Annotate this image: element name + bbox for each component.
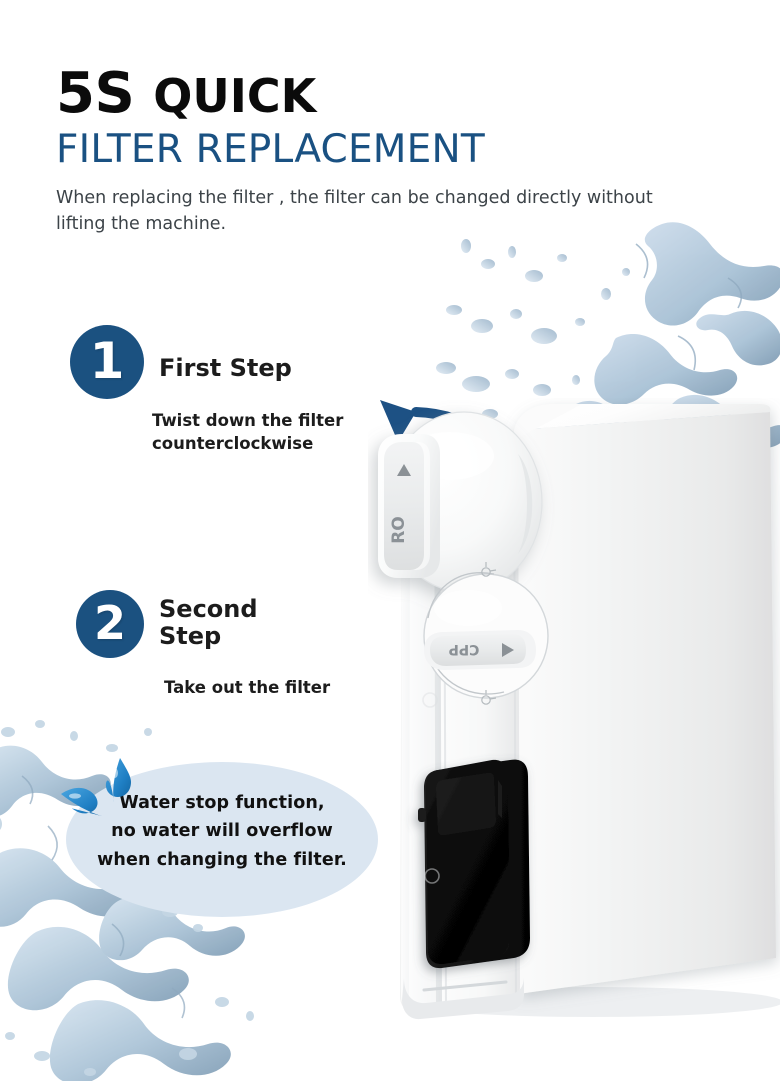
page-subtitle: FILTER REPLACEMENT <box>56 129 676 172</box>
water-droplet-icon-large <box>100 756 134 804</box>
step-2-description: Take out the filter <box>164 676 330 699</box>
page-title-emphasis: 5S <box>56 61 134 126</box>
step-item-2: 2 Second Step Take out the filter <box>76 590 330 699</box>
display-panel <box>418 760 530 969</box>
filter-cap-upper-label: RO <box>389 516 409 544</box>
headline-block: 5S QUICK FILTER REPLACEMENT When replaci… <box>56 64 676 237</box>
page-description: When replacing the filter , the filter c… <box>56 186 676 237</box>
filter-cap-lower-label: CPP <box>449 641 480 657</box>
page-title: 5S QUICK <box>56 64 676 123</box>
page-title-rest: QUICK <box>153 69 316 123</box>
step-2-header: 2 Second Step <box>76 590 330 658</box>
filter-cap-lower: CPP <box>424 630 536 670</box>
filter-cap-upper: RO <box>378 412 542 592</box>
product-water-purifier: RO CPP <box>368 398 780 1023</box>
step-item-1: 1 First Step Twist down the filter count… <box>70 325 343 456</box>
step-1-header: 1 First Step <box>70 325 343 399</box>
infographic-page: 5S QUICK FILTER REPLACEMENT When replaci… <box>0 0 780 1081</box>
water-droplet-icon-small <box>58 784 104 818</box>
step-1-title: First Step <box>159 325 292 382</box>
callout-bubble: Water stop function, no water will overf… <box>66 762 378 917</box>
product-body <box>514 404 776 994</box>
step-1-description: Twist down the filter counterclockwise <box>152 409 343 456</box>
step-2-title: Second Step <box>159 590 258 650</box>
step-1-number-badge: 1 <box>70 325 144 399</box>
step-2-number-badge: 2 <box>76 590 144 658</box>
